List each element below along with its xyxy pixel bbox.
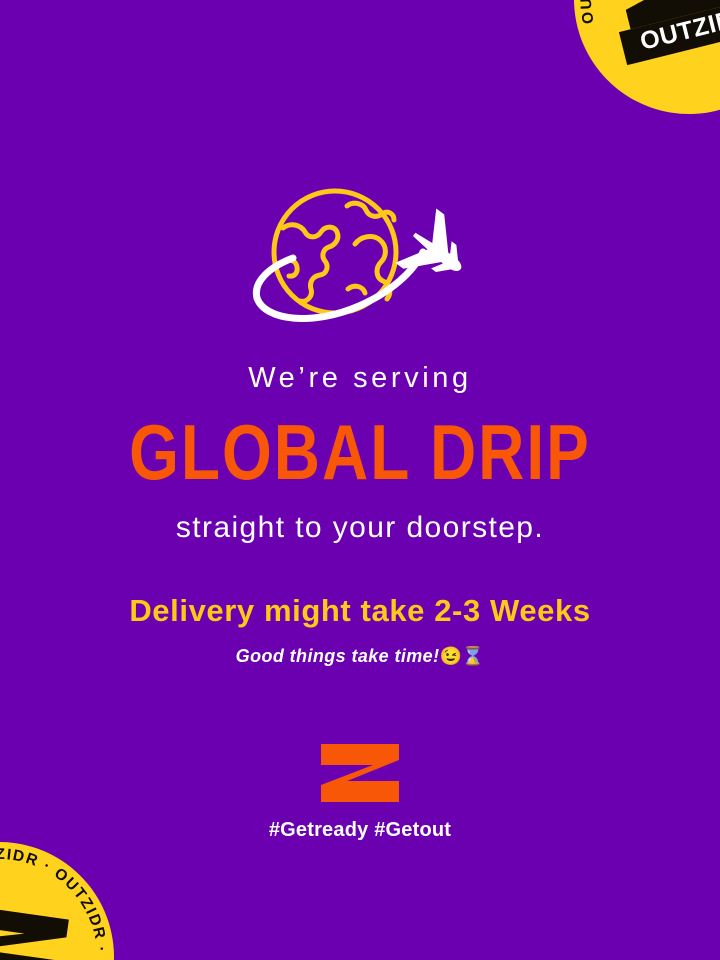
reassurance-text: Good things take time! bbox=[236, 646, 440, 666]
copy-block: We’re serving GLOBAL DRIP straight to yo… bbox=[0, 364, 720, 665]
footer-lockup: #Getready #Getout bbox=[0, 744, 720, 840]
hashtags-text: #Getready #Getout bbox=[0, 820, 720, 840]
outzidr-seal-bottom-left: OUTZIDR · OUTZIDR · OUTZIDR · OUTZIDR · … bbox=[0, 827, 129, 960]
promo-poster: OUTZIDR · OUTZIDR · OUTZIDR · OUTZIDR · … bbox=[0, 0, 720, 960]
outzidr-z-monogram bbox=[321, 744, 399, 802]
eyebrow-text: We’re serving bbox=[0, 364, 720, 393]
globe-with-airplane-icon bbox=[235, 170, 485, 345]
subline-text: straight to your doorstep. bbox=[0, 513, 720, 543]
headline-text: GLOBAL DRIP bbox=[0, 413, 720, 491]
delivery-notice-text: Delivery might take 2-3 Weeks bbox=[0, 595, 720, 626]
reassurance-emoji: 😉⌛ bbox=[439, 646, 484, 666]
hero-illustration bbox=[0, 170, 720, 345]
outzidr-seal-top-right: OUTZIDR · OUTZIDR · OUTZIDR · OUTZIDR · … bbox=[550, 0, 720, 138]
reassurance-line: Good things take time!😉⌛ bbox=[0, 647, 720, 665]
